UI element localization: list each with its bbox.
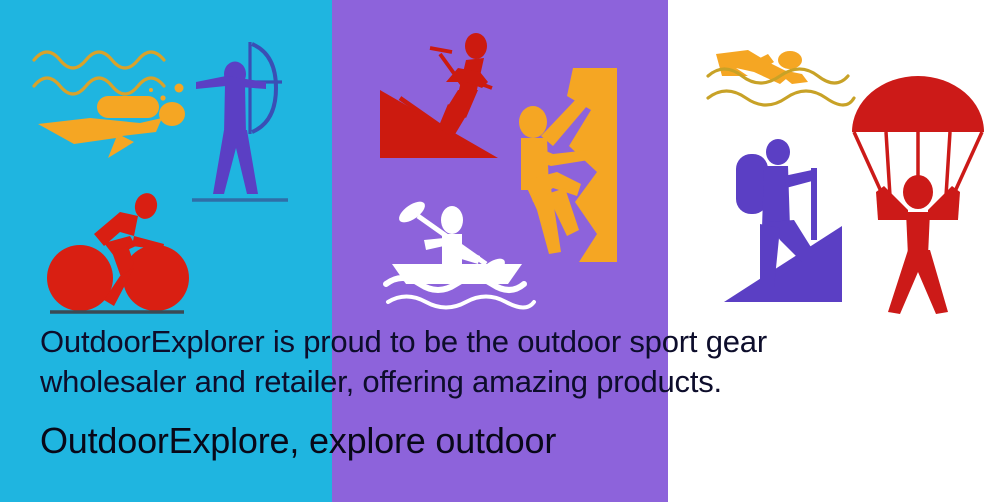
company-slogan: OutdoorExplore, explore outdoor	[40, 420, 1000, 462]
cyclist-icon	[42, 188, 192, 316]
tagline-line-1: OutdoorExplorer is proud to be the outdo…	[40, 322, 1000, 362]
marketing-text-block: OutdoorExplorer is proud to be the outdo…	[0, 322, 1000, 462]
parachutist-icon	[848, 74, 988, 319]
kayaker-icon	[382, 192, 542, 317]
swimmer-icon	[706, 32, 856, 117]
outdoor-explorer-banner: OutdoorExplorer is proud to be the outdo…	[0, 0, 1000, 502]
archer-icon	[190, 42, 300, 212]
tagline-line-2: wholesaler and retailer, offering amazin…	[40, 362, 1000, 402]
skier-icon	[362, 32, 502, 172]
swimmer-diving-icon	[30, 38, 200, 158]
hiker-icon	[706, 136, 856, 316]
